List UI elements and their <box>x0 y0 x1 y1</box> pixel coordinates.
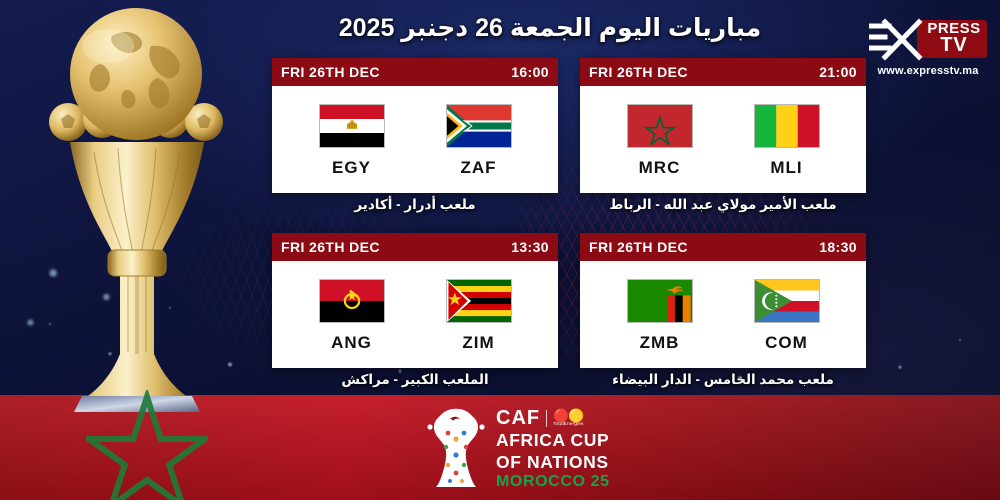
broadcast-graphic: مباريات اليوم الجمعة 26 دجنبر 2025 PRESS… <box>0 0 1000 500</box>
zimbabwe-flag <box>446 279 512 323</box>
match-card-header: FRI 26TH DEC 21:00 <box>580 58 866 86</box>
zambia-flag <box>627 279 693 323</box>
home-team: ANG <box>297 279 407 353</box>
home-team: EGY <box>297 104 407 178</box>
match-card-header: FRI 26TH DEC 16:00 <box>272 58 558 86</box>
afcon-line-2: OF NATIONS <box>496 454 610 472</box>
angola-flag <box>319 279 385 323</box>
match-card-header: FRI 26TH DEC 18:30 <box>580 233 866 261</box>
egypt-flag <box>319 104 385 148</box>
away-team: ZIM <box>424 279 534 353</box>
match-card[interactable]: FRI 26TH DEC 21:00 MRC <box>580 58 866 193</box>
team-code: MLI <box>770 158 802 178</box>
match-card[interactable]: FRI 26TH DEC 18:30 ZMB <box>580 233 866 368</box>
afcon-trophy-graphic <box>8 2 266 412</box>
match-time: 13:30 <box>511 239 549 255</box>
totalenergies-label: TotalEnergies <box>553 422 583 427</box>
away-team: COM <box>732 279 842 353</box>
totalenergies-sponsor-logo: 🔴🟡 TotalEnergies <box>553 409 583 427</box>
match-date: FRI 26TH DEC <box>281 239 380 255</box>
match-card-body: ZMB COM <box>580 261 866 368</box>
match-date: FRI 26TH DEC <box>589 239 688 255</box>
expresstv-press-tv-box: PRESS TV <box>917 20 986 58</box>
team-code: ANG <box>331 333 372 353</box>
mali-flag <box>754 104 820 148</box>
home-team: ZMB <box>605 279 715 353</box>
away-team: ZAF <box>424 104 534 178</box>
match-time: 18:30 <box>819 239 857 255</box>
logo-website-url: www.expresstv.ma <box>864 65 992 77</box>
morocco-flag <box>627 104 693 148</box>
home-team: MRC <box>605 104 715 178</box>
team-code: ZIM <box>462 333 494 353</box>
stadium-name: ملعب أدرار - أكادير <box>272 197 558 213</box>
match-date: FRI 26TH DEC <box>589 64 688 80</box>
match-card-body: ANG ZIM <box>272 261 558 368</box>
page-title: مباريات اليوم الجمعة 26 دجنبر 2025 <box>250 13 850 43</box>
stadium-name: ملعب الأمير مولاي عبد الله - الرباط <box>580 197 866 213</box>
stadium-name: ملعب محمد الخامس - الدار البيضاء <box>580 372 866 388</box>
comoros-flag <box>754 279 820 323</box>
logo-tv-label: TV <box>940 36 968 55</box>
expresstv-logo[interactable]: PRESS TV www.expresstv.ma <box>864 16 992 88</box>
match-date: FRI 26TH DEC <box>281 64 380 80</box>
team-code: EGY <box>332 158 371 178</box>
team-code: MRC <box>639 158 681 178</box>
match-card-body: MRC MLI <box>580 86 866 193</box>
match-card[interactable]: FRI 26TH DEC 13:30 ANG <box>272 233 558 368</box>
match-time: 16:00 <box>511 64 549 80</box>
caf-afcon-logo: CAF 🔴🟡 TotalEnergies AFRICA CUP OF NATIO… <box>424 404 610 492</box>
team-code: ZAF <box>460 158 496 178</box>
match-time: 21:00 <box>819 64 857 80</box>
afcon-trophy-logo-icon <box>424 405 488 491</box>
match-card-body: EGY ZAF <box>272 86 558 193</box>
morocco-pentagram-icon <box>86 390 208 500</box>
match-card[interactable]: FRI 26TH DEC 16:00 EGY <box>272 58 558 193</box>
caf-divider <box>546 410 547 427</box>
afcon-line-3: MOROCCO 25 <box>496 474 610 490</box>
team-code: ZMB <box>640 333 680 353</box>
match-card-header: FRI 26TH DEC 13:30 <box>272 233 558 261</box>
away-team: MLI <box>732 104 842 178</box>
team-code: COM <box>765 333 808 353</box>
stadium-name: الملعب الكبير - مراكش <box>272 372 558 388</box>
expresstv-x-icon <box>869 17 925 61</box>
caf-wordmark: CAF <box>496 408 540 428</box>
afcon-line-1: AFRICA CUP <box>496 432 610 450</box>
south-africa-flag <box>446 104 512 148</box>
caf-text-block: CAF 🔴🟡 TotalEnergies AFRICA CUP OF NATIO… <box>496 406 610 490</box>
